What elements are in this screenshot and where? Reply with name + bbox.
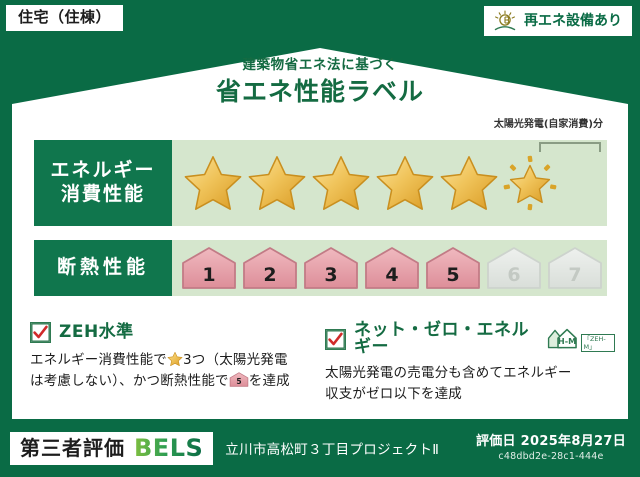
- criteria-net-zero: ネット・ゼロ・エネルギー H-M 「ZEH-M」 太陽光発電の売電分も含めてエネ…: [325, 322, 615, 405]
- zeh-m-logo: H-M 「ZEH-M」: [546, 326, 615, 352]
- renewable-equipment-label: 再エネ設備あり: [524, 14, 622, 28]
- building-type-label: 住宅（住棟）: [18, 8, 111, 26]
- star-icon: [310, 152, 372, 214]
- check-icon: [325, 329, 346, 350]
- insulation-category-text: 断熱性能: [57, 256, 149, 280]
- pv-note-label: 太陽光発電(自家消費)分: [494, 115, 603, 130]
- pv-star-icon: [502, 155, 558, 211]
- house-level-icon: 2: [241, 246, 299, 290]
- inline-house-icon: 5: [229, 372, 249, 387]
- house-level-icon: 3: [302, 246, 360, 290]
- evaluation-date: 評価日 2025年8月27日: [476, 434, 626, 450]
- energy-performance-row: エネルギー 消費性能 太陽光発電(自家消費)分: [34, 140, 607, 226]
- evaluation-date-block: 評価日 2025年8月27日 c48dbd2e-28c1-444e: [476, 434, 626, 463]
- energy-performance-label: 住宅（住棟） 再エネ設備あり 建築物省エネ法に基づく 省エネ性能ラベル: [0, 0, 640, 477]
- star-icon: [246, 152, 308, 214]
- criteria-net-zero-header: ネット・ゼロ・エネルギー H-M 「ZEH-M」: [325, 322, 615, 356]
- criteria-zeh-text-4: を達成: [249, 373, 290, 389]
- bels-jp-label: 第三者評価: [20, 438, 125, 458]
- svg-text:1: 1: [202, 264, 215, 286]
- criteria-zeh-body: エネルギー消費性能で3つ（太陽光発電は考慮しない）、かつ断熱性能で5を達成: [30, 350, 315, 392]
- renewable-equipment-badge: 再エネ設備あり: [484, 6, 632, 36]
- building-type-badge: 住宅（住棟）: [6, 5, 123, 31]
- criteria-zeh: ZEH水準 エネルギー消費性能で3つ（太陽光発電は考慮しない）、かつ断熱性能で5…: [30, 322, 315, 392]
- criteria-zeh-text-2: 3つ（太陽光発電: [183, 352, 288, 368]
- pv-bracket: [539, 142, 601, 152]
- criteria-net-zero-body: 太陽光発電の売電分も含めてエネルギー 収支がゼロ以下を達成: [325, 363, 615, 405]
- criteria-zeh-text-1: エネルギー消費性能で: [30, 352, 167, 368]
- insulation-performance-row: 断熱性能 1 2 3: [34, 240, 607, 296]
- svg-text:7: 7: [568, 264, 581, 286]
- criteria-zeh-text-3: は考慮しない）、かつ断熱性能で: [30, 373, 229, 389]
- house-level-icon: 4: [363, 246, 421, 290]
- energy-category-line1: エネルギー: [50, 159, 155, 183]
- svg-text:6: 6: [507, 264, 520, 286]
- criteria-net-zero-title: ネット・ゼロ・エネルギー: [354, 322, 536, 356]
- check-icon: [30, 322, 51, 343]
- page-title: 省エネ性能ラベル: [0, 78, 640, 106]
- svg-text:4: 4: [385, 264, 398, 286]
- criteria-net-zero-line1: 太陽光発電の売電分も含めてエネルギー: [325, 365, 572, 381]
- star-icon: [438, 152, 500, 214]
- insulation-rating-area: 1 2 3 4 5: [172, 240, 607, 296]
- project-name: 立川市高松町３丁目プロジェクトⅡ: [225, 438, 439, 458]
- label-title-block: 建築物省エネ法に基づく 省エネ性能ラベル: [0, 58, 640, 105]
- star-icon: [374, 152, 436, 214]
- energy-category-label: エネルギー 消費性能: [34, 140, 172, 226]
- criteria-net-zero-line2: 収支がゼロ以下を達成: [325, 386, 462, 402]
- star-rating: [172, 152, 558, 214]
- inline-star-icon: [167, 351, 183, 367]
- house-level-icon-inactive: 7: [546, 246, 604, 290]
- bels-en-label: BELS: [134, 436, 203, 460]
- insulation-category-label: 断熱性能: [34, 240, 172, 296]
- zeh-m-house-icon: H-M: [546, 326, 580, 352]
- svg-text:5: 5: [236, 377, 241, 386]
- house-level-icon: 5: [424, 246, 482, 290]
- energy-rating-area: 太陽光発電(自家消費)分: [172, 140, 607, 226]
- energy-category-line2: 消費性能: [61, 183, 145, 207]
- evaluation-id: c48dbd2e-28c1-444e: [476, 451, 626, 462]
- house-level-icon-inactive: 6: [485, 246, 543, 290]
- svg-text:2: 2: [263, 264, 276, 286]
- svg-text:H-M: H-M: [558, 336, 576, 346]
- bels-badge: 第三者評価 BELS: [10, 432, 213, 465]
- house-level-icon: 1: [180, 246, 238, 290]
- criteria-zeh-title: ZEH水準: [59, 324, 134, 341]
- insulation-level-scale: 1 2 3 4 5: [172, 246, 604, 290]
- svg-text:5: 5: [446, 264, 459, 286]
- sun-icon: [492, 10, 518, 32]
- zeh-m-caption: 「ZEH-M」: [581, 334, 615, 352]
- footer-bar: 第三者評価 BELS 立川市高松町３丁目プロジェクトⅡ 評価日 2025年8月2…: [0, 419, 640, 477]
- criteria-zeh-header: ZEH水準: [30, 322, 315, 343]
- title-subtitle: 建築物省エネ法に基づく: [0, 58, 640, 73]
- svg-text:3: 3: [324, 264, 337, 286]
- star-icon: [182, 152, 244, 214]
